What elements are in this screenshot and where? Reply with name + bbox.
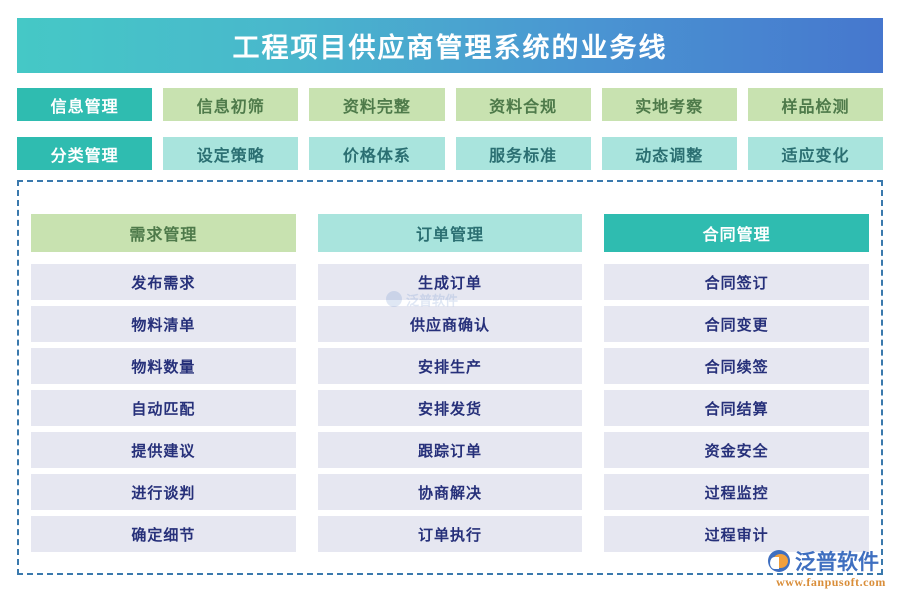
brand-name: 泛普软件 (795, 546, 879, 576)
process-item[interactable]: 合同结算 (604, 390, 869, 426)
tag-item[interactable]: 资料合规 (456, 88, 591, 121)
process-item[interactable]: 确定细节 (31, 516, 296, 552)
process-item[interactable]: 资金安全 (604, 432, 869, 468)
process-item[interactable]: 物料清单 (31, 306, 296, 342)
process-item[interactable]: 物料数量 (31, 348, 296, 384)
page-title: 工程项目供应商管理系统的业务线 (233, 26, 668, 65)
tag-item[interactable]: 资料完整 (309, 88, 444, 121)
process-item[interactable]: 合同续签 (604, 348, 869, 384)
process-item[interactable]: 安排生产 (318, 348, 583, 384)
process-item[interactable]: 协商解决 (318, 474, 583, 510)
tag-item[interactable]: 价格体系 (309, 137, 444, 170)
process-item[interactable]: 合同签订 (604, 264, 869, 300)
tag-item[interactable]: 实地考察 (602, 88, 737, 121)
tag-item[interactable]: 服务标准 (456, 137, 591, 170)
tag-item[interactable]: 信息管理 (17, 88, 152, 121)
column-header[interactable]: 订单管理 (318, 214, 583, 252)
brand-logo: 泛普软件 www.fanpusoft.com (768, 548, 894, 592)
process-columns: 需求管理发布需求物料清单物料数量自动匹配提供建议进行谈判确定细节订单管理生成订单… (17, 214, 883, 554)
logo-notch-shape (770, 557, 779, 569)
tag-item[interactable]: 分类管理 (17, 137, 152, 170)
tag-row-classification-management: 分类管理设定策略价格体系服务标准动态调整适应变化 (17, 137, 883, 170)
process-item[interactable]: 跟踪订单 (318, 432, 583, 468)
fanpu-logo-icon (768, 549, 792, 573)
process-column: 需求管理发布需求物料清单物料数量自动匹配提供建议进行谈判确定细节 (31, 214, 296, 554)
brand-logo-top: 泛普软件 (768, 548, 894, 574)
tag-item[interactable]: 信息初筛 (163, 88, 298, 121)
process-item[interactable]: 供应商确认 (318, 306, 583, 342)
process-item[interactable]: 订单执行 (318, 516, 583, 552)
process-item[interactable]: 安排发货 (318, 390, 583, 426)
process-item[interactable]: 发布需求 (31, 264, 296, 300)
column-header[interactable]: 需求管理 (31, 214, 296, 252)
process-column: 合同管理合同签订合同变更合同续签合同结算资金安全过程监控过程审计 (604, 214, 869, 554)
process-item[interactable]: 提供建议 (31, 432, 296, 468)
tag-item[interactable]: 样品检测 (748, 88, 883, 121)
brand-url: www.fanpusoft.com (768, 575, 894, 590)
tag-item[interactable]: 适应变化 (748, 137, 883, 170)
process-item[interactable]: 生成订单 (318, 264, 583, 300)
tag-item[interactable]: 设定策略 (163, 137, 298, 170)
process-item[interactable]: 自动匹配 (31, 390, 296, 426)
page-title-banner: 工程项目供应商管理系统的业务线 (17, 18, 883, 73)
process-item[interactable]: 合同变更 (604, 306, 869, 342)
process-item[interactable]: 过程监控 (604, 474, 869, 510)
column-header[interactable]: 合同管理 (604, 214, 869, 252)
tag-item[interactable]: 动态调整 (602, 137, 737, 170)
process-item[interactable]: 进行谈判 (31, 474, 296, 510)
process-column: 订单管理生成订单供应商确认安排生产安排发货跟踪订单协商解决订单执行 (318, 214, 583, 554)
tag-row-information-management: 信息管理信息初筛资料完整资料合规实地考察样品检测 (17, 88, 883, 121)
